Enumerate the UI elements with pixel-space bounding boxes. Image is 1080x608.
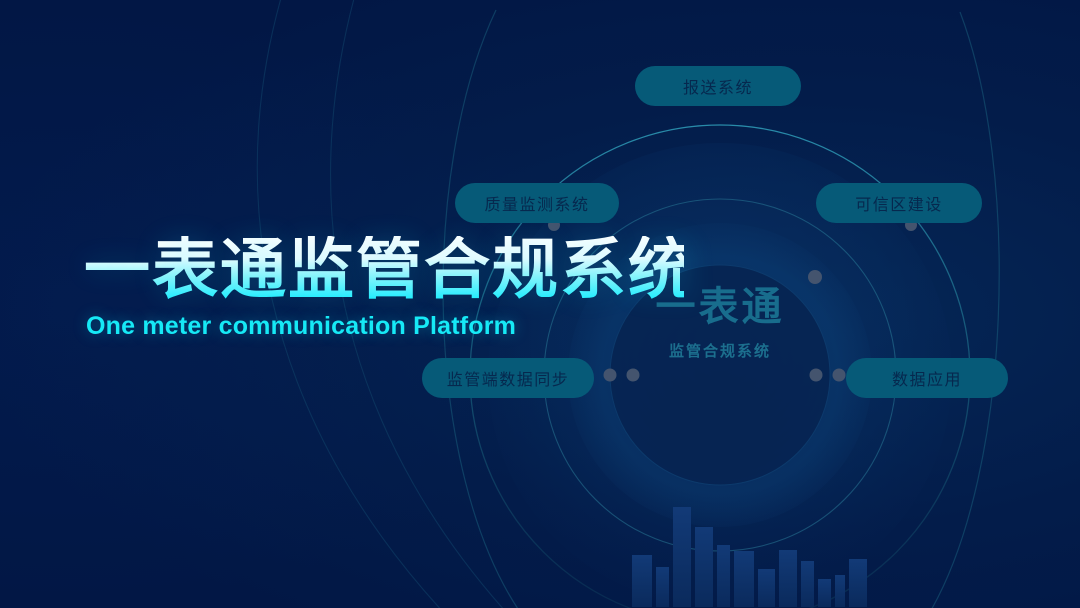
bar bbox=[818, 579, 831, 607]
bar bbox=[758, 569, 775, 607]
node-dot bbox=[604, 369, 617, 382]
node-pill-quality[interactable]: 质量监测系统 bbox=[455, 183, 619, 223]
bar bbox=[779, 550, 797, 607]
node-dot bbox=[833, 369, 846, 382]
bar bbox=[734, 551, 754, 607]
slide-canvas: 一表通监管合规系统 One meter communication Platfo… bbox=[0, 0, 1080, 608]
headline-block: 一表通监管合规系统 One meter communication Platfo… bbox=[84, 236, 684, 341]
bar bbox=[717, 545, 730, 607]
page-subtitle: One meter communication Platform bbox=[86, 312, 684, 341]
bar bbox=[801, 561, 814, 607]
bar bbox=[849, 559, 867, 607]
node-pill-dataapp[interactable]: 数据应用 bbox=[846, 358, 1008, 398]
node-pill-trusted[interactable]: 可信区建设 bbox=[816, 183, 982, 223]
node-dot bbox=[627, 369, 640, 382]
bar bbox=[673, 507, 691, 607]
bar bbox=[632, 555, 652, 607]
bar bbox=[656, 567, 669, 607]
node-dot bbox=[808, 270, 822, 284]
bar bbox=[835, 575, 845, 607]
node-pill-report[interactable]: 报送系统 bbox=[635, 66, 801, 106]
node-dot bbox=[810, 369, 823, 382]
page-title: 一表通监管合规系统 bbox=[84, 236, 684, 302]
bar bbox=[695, 527, 713, 607]
node-pill-sync[interactable]: 监管端数据同步 bbox=[422, 358, 594, 398]
